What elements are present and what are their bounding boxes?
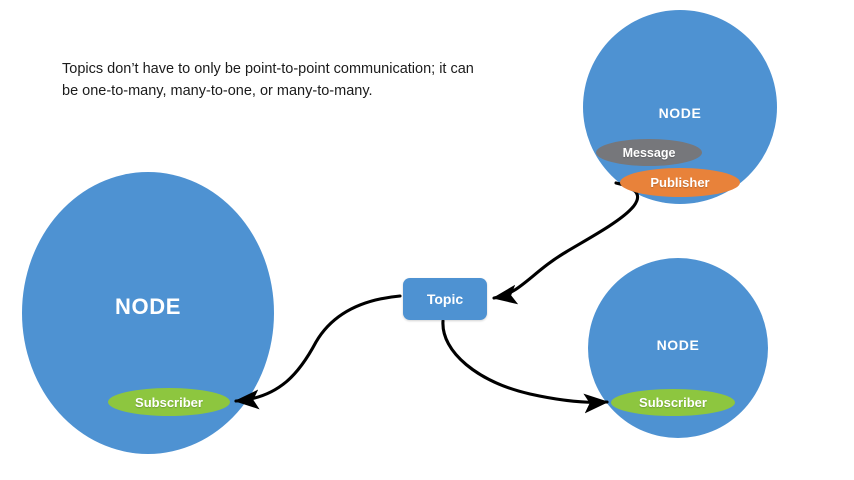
edge-publisher-to-topic xyxy=(494,183,638,298)
subscriber-pill-right[interactable]: Subscriber xyxy=(611,389,735,416)
node-label-top-right: NODE xyxy=(583,105,777,121)
subscriber-pill-left[interactable]: Subscriber xyxy=(108,388,230,416)
message-pill[interactable]: Message xyxy=(596,139,702,166)
slide-canvas: Topics don’t have to only be point-to-po… xyxy=(0,0,854,480)
node-label-left: NODE xyxy=(22,294,274,320)
node-label-bottom-right: NODE xyxy=(588,337,768,353)
publisher-pill[interactable]: Publisher xyxy=(620,168,740,197)
edge-topic-to-subscriber-right xyxy=(443,321,607,402)
topic-box[interactable]: Topic xyxy=(403,278,487,320)
caption-text: Topics don’t have to only be point-to-po… xyxy=(62,58,482,103)
